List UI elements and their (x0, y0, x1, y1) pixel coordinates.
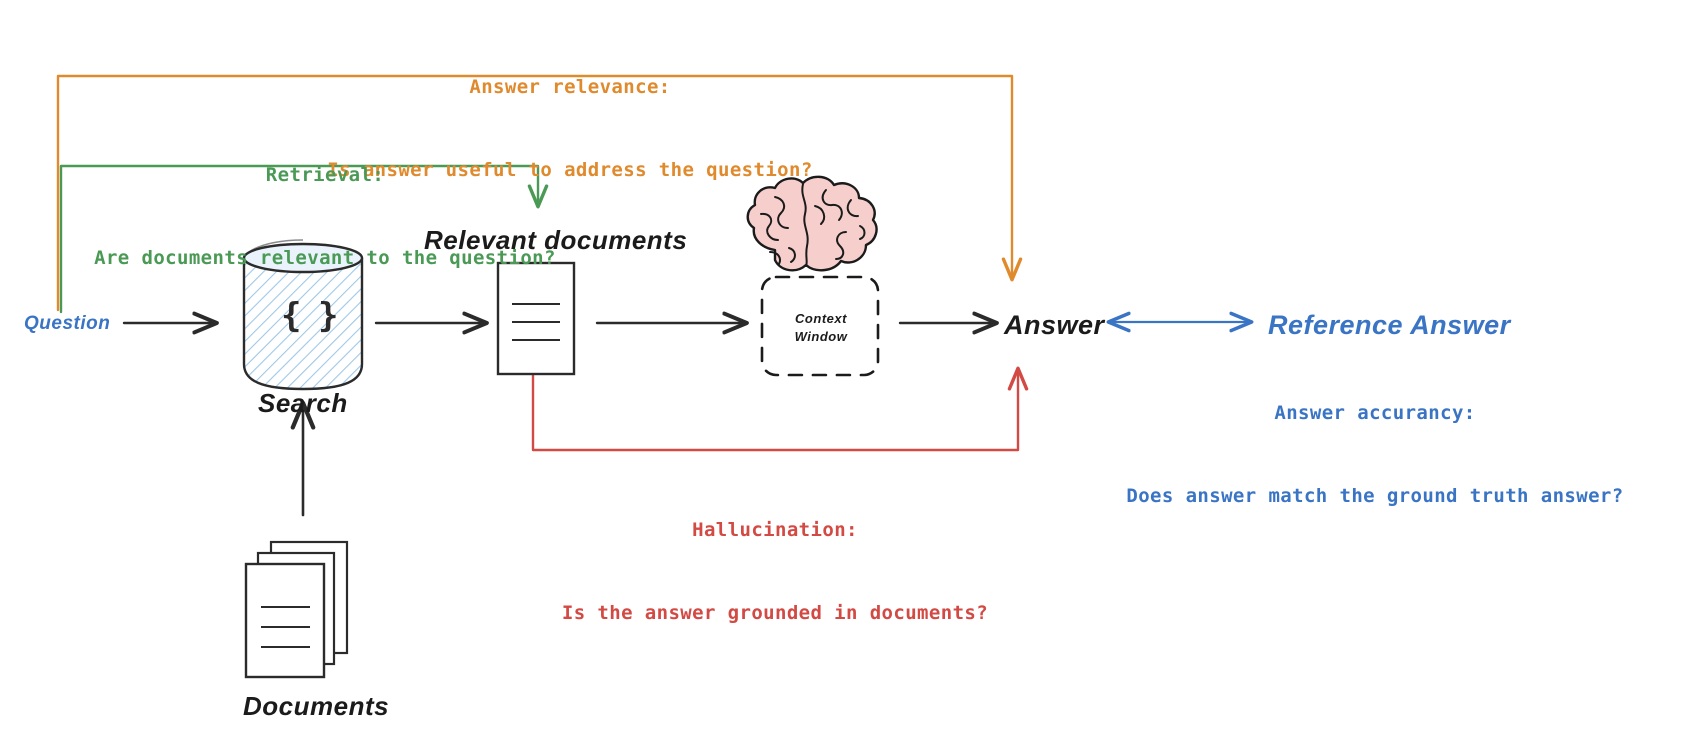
annotation-hallucination-title: Hallucination: (505, 517, 1045, 545)
annotation-answer-relevance-title: Answer relevance: (300, 74, 840, 102)
annotation-answer-accuracy-title: Answer accurancy: (1070, 400, 1680, 428)
node-label-relevant-documents: Relevant documents (424, 222, 687, 260)
search-braces-glyph: { } (281, 292, 336, 341)
node-label-documents: Documents (243, 688, 389, 726)
annotation-answer-accuracy: Answer accurancy: Does answer match the … (1070, 345, 1680, 565)
annotation-hallucination-question: Is the answer grounded in documents? (505, 600, 1045, 628)
node-label-question: Question (24, 310, 110, 338)
diagram-canvas: Answer relevance: Is answer useful to ad… (0, 0, 1696, 731)
context-window-label-line2: Window (793, 328, 849, 347)
annotation-hallucination: Hallucination: Is the answer grounded in… (505, 462, 1045, 682)
annotation-answer-accuracy-question: Does answer match the ground truth answe… (1070, 483, 1680, 511)
node-label-search: Search (258, 385, 348, 423)
context-window-label-line1: Context (793, 310, 849, 329)
node-label-answer: Answer (1004, 306, 1105, 345)
annotation-retrieval-title: Retrieval: (75, 162, 575, 190)
node-label-reference-answer: Reference Answer (1268, 306, 1511, 345)
documents-stack-icon (246, 542, 347, 677)
edge-hallucination (533, 370, 1018, 450)
